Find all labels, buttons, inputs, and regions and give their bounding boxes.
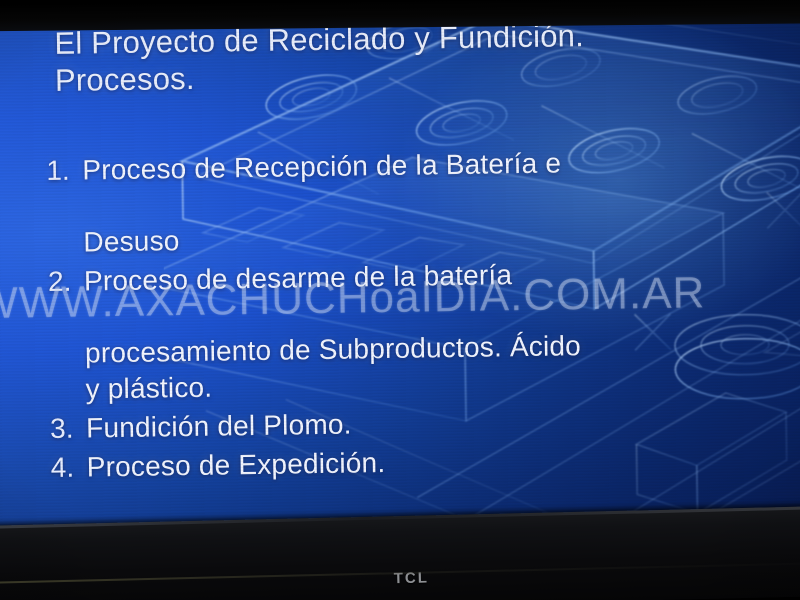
photograph-of-tv-screen: El Proyecto de Reciclado y Fundición. Pr…: [0, 0, 800, 600]
slide-text-layer: El Proyecto de Reciclado y Fundición. Pr…: [0, 2, 800, 538]
list-item-number: 3.: [50, 411, 87, 448]
tv-screen: El Proyecto de Reciclado y Fundición. Pr…: [0, 2, 800, 538]
list-item-number: 4.: [50, 449, 87, 486]
list-item-number: 1.: [46, 153, 83, 190]
list-item-text: Proceso de Recepción de la Batería eDesu…: [82, 142, 800, 261]
list-item-number: 2.: [48, 264, 85, 301]
list-item-text: Fundición del Plomo.: [86, 407, 352, 447]
list-item: 1. Proceso de Recepción de la Batería eD…: [46, 141, 800, 261]
list-item: 2. Proceso de desarme de la bateríaproce…: [48, 252, 800, 408]
process-list: 1. Proceso de Recepción de la Batería eD…: [46, 141, 800, 489]
list-item-text: Proceso de desarme de la bateríaprocesam…: [84, 253, 800, 408]
list-item-text: Proceso de Expedición.: [86, 445, 385, 485]
